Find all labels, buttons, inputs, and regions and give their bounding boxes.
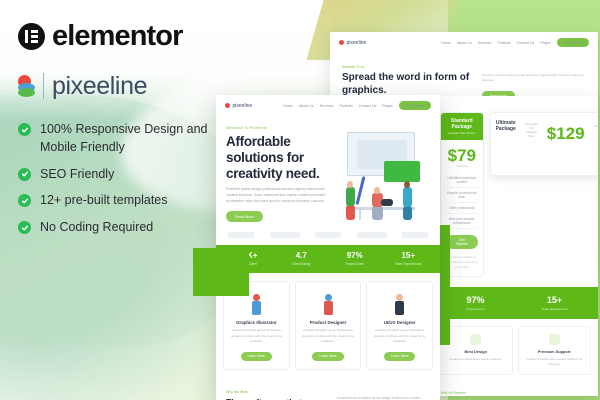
support-card-title: Premium Support — [523, 349, 587, 354]
hero-button[interactable]: Read More — [226, 211, 263, 222]
feature-label: 12+ pre-built templates — [40, 192, 168, 210]
nav-item[interactable]: About Us — [457, 41, 472, 45]
service-card-text: Creative thoughts about illustrations de… — [372, 328, 427, 344]
logo-divider — [43, 73, 44, 99]
person-standing-right-body — [403, 187, 412, 207]
nav-item[interactable]: Contact Us — [359, 104, 377, 108]
hero-heading: Spread the word in form of graphics. — [342, 72, 472, 97]
hero-eyebrow: Welcome To Us — [342, 65, 472, 69]
plan-subtitle: Complete All Creative Plan — [525, 122, 538, 138]
mockup-main: pixeeline Home About Us Services Portfol… — [216, 95, 440, 400]
feature-label: 100% Responsive Design and Mobile Friend… — [40, 121, 233, 157]
section-paragraph: Great services to deliver all our design… — [337, 390, 430, 400]
section-eyebrow: Why Us Pixeeline — [441, 391, 589, 395]
elementor-logo: elementor — [18, 22, 233, 51]
brand-logo — [228, 232, 254, 238]
plan-period: / Monthly — [594, 120, 598, 128]
check-circle-icon — [18, 168, 31, 181]
stat-item: 15+ Team Experienced — [515, 295, 594, 311]
plan-name: Ultimate Package — [496, 120, 516, 132]
mockup-navbar: pixeeline Home About Us Services Portfol… — [216, 95, 440, 116]
service-card: UI/UX Designer Creative thoughts about i… — [366, 281, 433, 370]
feature-list: 100% Responsive Design and Mobile Friend… — [18, 121, 233, 237]
mockup-logo-text: pixeeline — [233, 103, 253, 109]
feature-label: No Coding Required — [40, 219, 153, 237]
mockup-right-pricing: Standard Package Popular Plan Choice $79… — [432, 96, 598, 396]
mockup-navbar: pixeeline Home About Us Services Portfol… — [330, 32, 598, 53]
right-lower-section: Why Us Pixeeline Visual treats to engage… — [432, 382, 598, 396]
promo-banner: elementor pixeeline 100% Responsive Desi… — [0, 0, 600, 400]
stat-value: 15+ — [515, 295, 594, 305]
feature-item: 100% Responsive Design and Mobile Friend… — [18, 121, 233, 157]
logo-dot-icon — [339, 40, 344, 45]
plan-feature: Best price website maintenance — [446, 214, 478, 229]
plan-price: $79 — [446, 147, 478, 164]
plan-feature: Regular professional work — [446, 188, 478, 203]
chair-shape — [372, 206, 383, 220]
nav-item[interactable]: Portfolio — [339, 104, 352, 108]
accent-block-left — [193, 248, 249, 296]
nav-item[interactable]: Contact Us — [517, 41, 535, 45]
nav-item[interactable]: About Us — [299, 104, 314, 108]
nav-item[interactable]: Services — [478, 41, 492, 45]
pencil-icon — [355, 176, 365, 205]
feature-label: SEO Friendly — [40, 166, 114, 184]
brand-logo — [315, 232, 341, 238]
service-card-text: Creative thoughts about illustrations de… — [301, 328, 356, 344]
logo-dot-icon — [225, 103, 230, 108]
mockup-logo-text: pixeeline — [347, 40, 367, 46]
nav-item[interactable]: Portfolio — [497, 41, 510, 45]
mockup-hero: Welcome To Pixeeline Affordable solution… — [216, 116, 440, 229]
support-card: Premium Support Creative thoughts about … — [518, 326, 592, 375]
laptop-icon — [381, 199, 394, 206]
section-eyebrow: Why We Work — [226, 390, 329, 394]
feature-item: SEO Friendly — [18, 166, 233, 184]
mockup-logo: pixeeline — [225, 103, 252, 109]
stat-item: 15+ Team Experienced — [382, 252, 436, 267]
pricing-card-ultimate: Ultimate Package Complete All Creative P… — [490, 112, 598, 176]
brand-logo — [357, 232, 387, 238]
stat-label: Team Experienced — [382, 262, 436, 266]
stat-label: Team Experienced — [515, 307, 594, 311]
service-card-button[interactable]: Learn More — [312, 352, 343, 361]
service-card-button[interactable]: Learn More — [384, 352, 415, 361]
main-lower-section: Why We Work The craftsman that Makes Uni… — [216, 380, 440, 400]
pixeeline-mark-icon — [18, 75, 35, 97]
service-card: Product Designer Creative thoughts about… — [295, 281, 362, 370]
support-card-title: Best Design — [444, 349, 508, 354]
green-screen-shape — [384, 161, 421, 182]
service-card-text: Creative thoughts about illustrations de… — [229, 328, 284, 344]
person-standing-right-legs — [403, 206, 412, 220]
hero-eyebrow: Welcome To Pixeeline — [226, 126, 327, 130]
support-card-text: Creative thoughts about design solutions… — [444, 357, 508, 362]
support-icon — [549, 334, 560, 345]
stat-label: Project Done — [328, 262, 382, 266]
uiux-designer-icon — [372, 289, 427, 315]
stat-label: Client Rating — [275, 262, 329, 266]
feature-item: 12+ pre-built templates — [18, 192, 233, 210]
nav-item[interactable]: Pages — [540, 41, 550, 45]
plan-note: The plan is excellent to start designs a… — [446, 255, 478, 269]
right-stats-bar: 97% Project Done 15+ Team Experienced — [432, 287, 598, 319]
stat-value: 15+ — [382, 252, 436, 261]
plan-subtitle: Popular Plan Choice — [445, 131, 479, 135]
elementor-mark-icon — [18, 23, 45, 50]
check-circle-icon — [18, 194, 31, 207]
hero-paragraph: Pixeeline creative studio provide awesom… — [482, 73, 586, 84]
mockup-logo: pixeeline — [339, 40, 366, 46]
plan-feature: Unlimited inspiration content — [446, 173, 478, 188]
support-cards: Best Design Creative thoughts about desi… — [432, 319, 598, 382]
plan-price: $129 — [547, 125, 585, 142]
nav-item[interactable]: Services — [320, 104, 334, 108]
nav-item[interactable]: Pages — [382, 104, 392, 108]
design-icon — [470, 334, 481, 345]
hero-paragraph: Pixeeline quality design professional se… — [226, 187, 327, 205]
pixeeline-wordmark: pixeeline — [52, 74, 147, 99]
nav-item[interactable]: Home — [441, 41, 451, 45]
desk-leg-shape — [359, 209, 361, 220]
check-circle-icon — [18, 221, 31, 234]
stat-value: 4.7 — [275, 252, 329, 261]
support-card: Best Design Creative thoughts about desi… — [439, 326, 513, 375]
plan-name: Standard Package — [445, 118, 479, 130]
person-standing-left-legs — [346, 205, 355, 219]
person-seated-head — [374, 187, 380, 194]
pricing-section: Standard Package Popular Plan Choice $79… — [432, 96, 598, 287]
stats-bar: 14K+ Happy Client 4.7 Client Rating 97% … — [216, 245, 440, 274]
nav-cta-button[interactable]: Get Started — [557, 38, 589, 47]
person-standing-left-body — [346, 187, 355, 206]
mockup-nav-menu: Home About Us Services Portfolio Contact… — [283, 101, 431, 110]
plan-feature: Offer professional — [446, 203, 478, 214]
stat-value: 97% — [328, 252, 382, 261]
mockup-nav-menu: Home About Us Services Portfolio Contact… — [441, 38, 589, 47]
brand-logos-row — [216, 229, 440, 245]
service-card-title: Graphics Illustrator — [229, 320, 284, 325]
nav-cta-button[interactable]: Get Started — [399, 101, 431, 110]
service-card-button[interactable]: Learn More — [241, 352, 272, 361]
hero-illustration — [333, 126, 430, 223]
left-column: elementor pixeeline 100% Responsive Desi… — [18, 22, 233, 237]
plan-button[interactable]: Get Started — [446, 235, 478, 249]
hero-heading: Affordable solutions for creativity need… — [226, 134, 327, 182]
service-card-title: Product Designer — [301, 320, 356, 325]
check-circle-icon — [18, 123, 31, 136]
feature-item: No Coding Required — [18, 219, 233, 237]
product-designer-icon — [301, 289, 356, 315]
support-card-text: Creative thoughts about design solutions… — [523, 357, 587, 367]
stat-item: 4.7 Client Rating — [275, 252, 329, 267]
nav-item[interactable]: Home — [283, 104, 293, 108]
service-card-title: UI/UX Designer — [372, 320, 427, 325]
service-cards: Graphics Illustrator Creative thoughts a… — [216, 273, 440, 380]
pixeeline-logo: pixeeline — [18, 73, 233, 99]
elementor-wordmark: elementor — [52, 22, 183, 51]
stat-item: 97% Project Done — [328, 252, 382, 267]
pricing-card-header: Standard Package Popular Plan Choice — [441, 113, 483, 140]
brand-logo — [270, 232, 300, 238]
brand-logo — [402, 232, 428, 238]
